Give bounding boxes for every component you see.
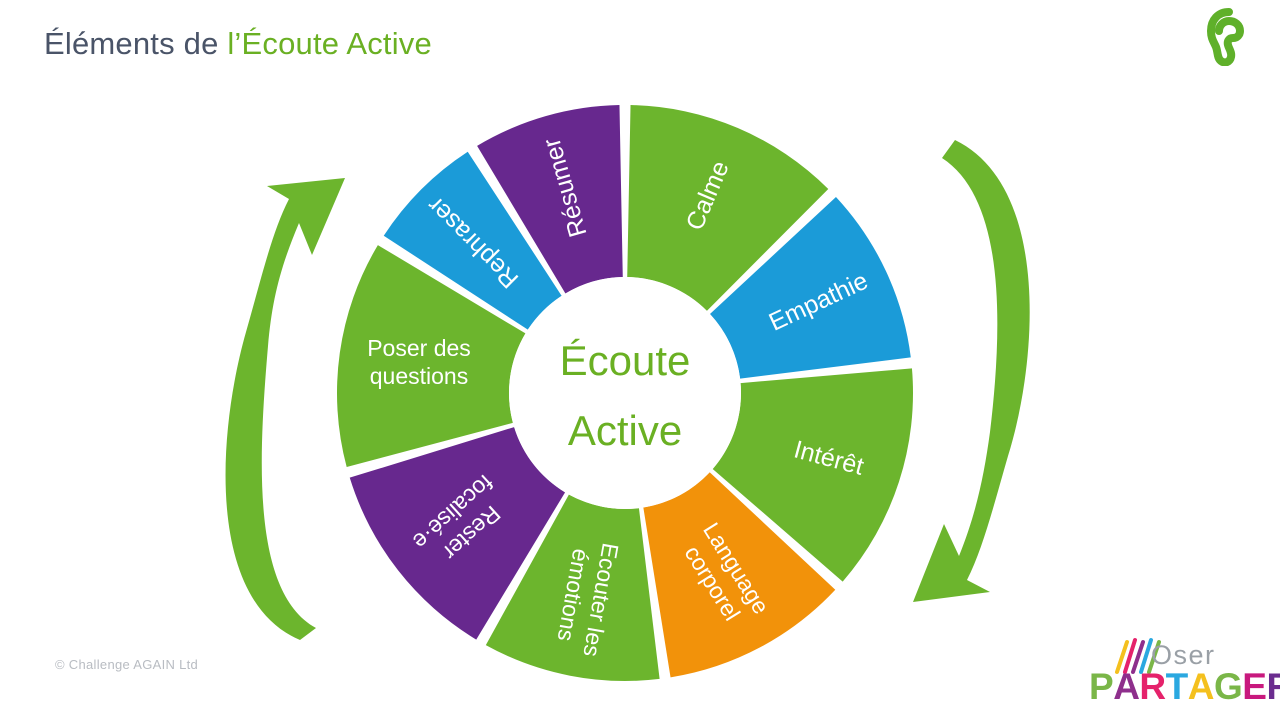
brand-logo[interactable]: Oser PARTAGER (1089, 634, 1264, 712)
center-label-line1: Écoute (560, 337, 691, 384)
brand-letter: R (1139, 666, 1165, 708)
wheel-center-circle (509, 277, 741, 509)
brand-letter: E (1242, 666, 1266, 708)
active-listening-wheel: CalmeEmpathieIntérêtLanguagecorporelEcou… (0, 0, 1280, 720)
copyright-notice: © Challenge AGAIN Ltd (55, 657, 198, 672)
brand-partager-text: PARTAGER (1089, 666, 1280, 708)
brand-letter: A (1113, 666, 1139, 708)
brand-letter: T (1166, 666, 1188, 708)
brand-letter: G (1214, 666, 1242, 708)
brand-letter: A (1188, 666, 1214, 708)
curved-arrow-up-icon (226, 178, 345, 640)
center-label-line2: Active (568, 407, 682, 454)
brand-letter: P (1089, 666, 1113, 708)
brand-letter: R (1266, 666, 1280, 708)
curved-arrow-down-icon (913, 140, 1030, 602)
